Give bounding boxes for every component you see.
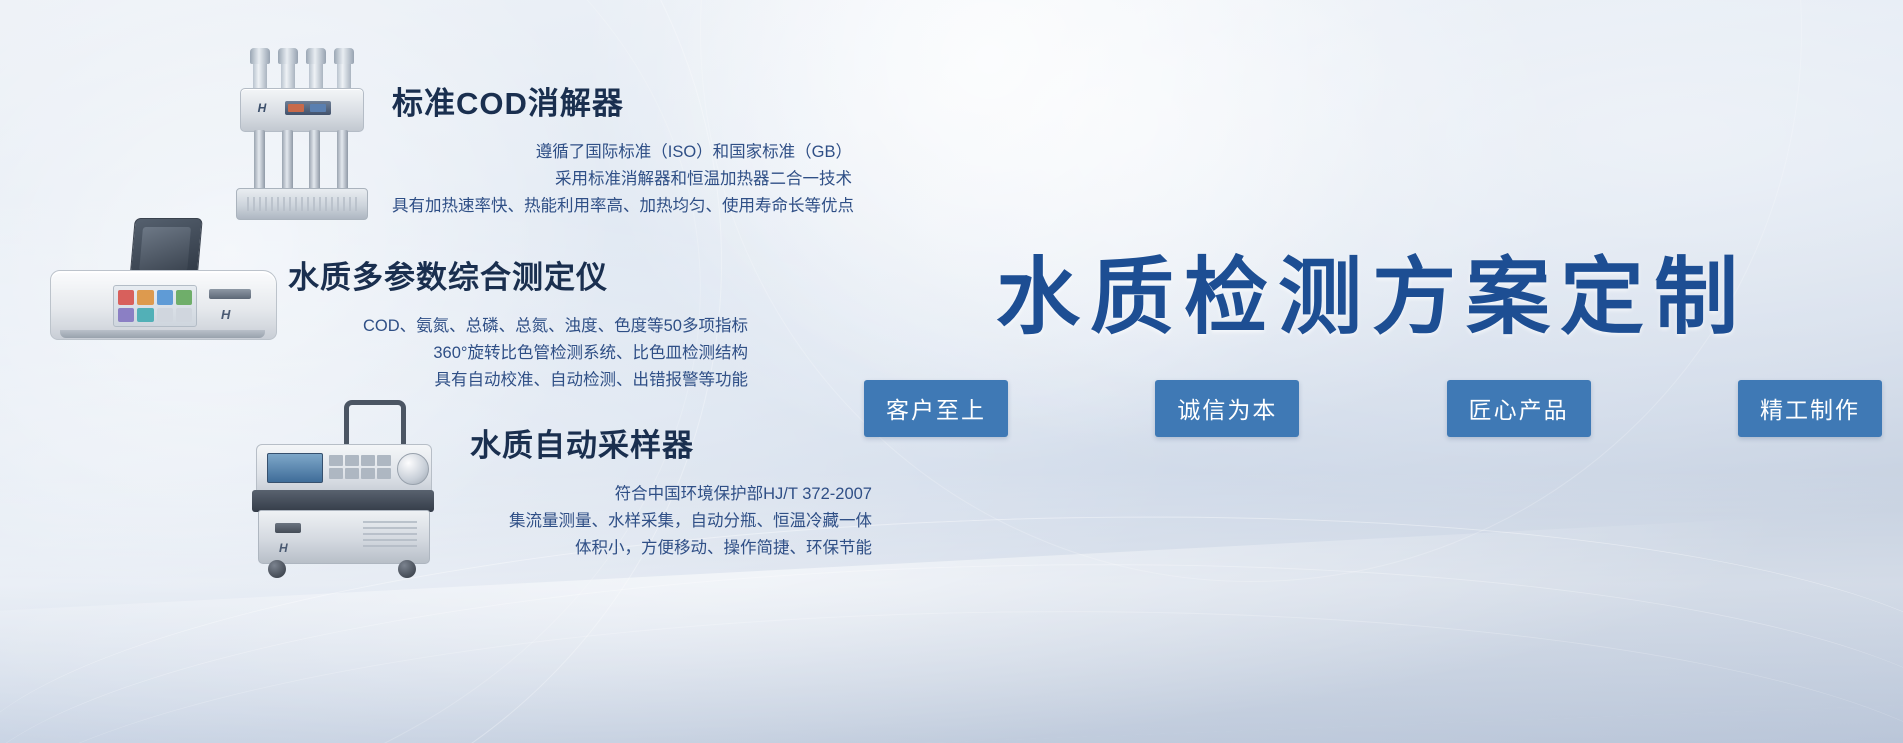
analyzer-base	[60, 330, 265, 338]
sampler-handle	[344, 400, 406, 449]
product-block-auto-water-sampler: 水质自动采样器 符合中国环境保护部HJ/T 372-2007 集流量测量、水样采…	[470, 420, 872, 562]
product-description-line: 采用标准消解器和恒温加热器二合一技术	[392, 166, 852, 193]
vent-grille-icon	[363, 521, 417, 551]
sampler-wheel-right	[398, 560, 416, 578]
sampler-keypad	[329, 455, 391, 479]
sampler-wheel-left	[268, 560, 286, 578]
value-tag-integrity[interactable]: 诚信为本	[1155, 380, 1299, 437]
water-quality-solution-banner: H H	[0, 0, 1903, 743]
product-description-line: 体积小，方便移动、操作简捷、环保节能	[470, 535, 872, 562]
banner-headline: 水质检测方案定制	[862, 230, 1882, 351]
digestion-tubes	[250, 48, 354, 92]
product-title: 水质多参数综合测定仪	[288, 252, 748, 297]
cod-digester-device-icon: H	[236, 48, 366, 218]
brand-mark-icon: H	[221, 307, 230, 322]
multi-parameter-analyzer-device-icon: H	[50, 218, 275, 338]
value-tag-customer-first[interactable]: 客户至上	[864, 380, 1008, 437]
product-title: 水质自动采样器	[470, 420, 872, 465]
brand-mark-icon: H	[279, 541, 288, 555]
product-description-line: 符合中国环境保护部HJ/T 372-2007	[470, 481, 872, 508]
analyzer-keys	[118, 290, 192, 322]
auto-water-sampler-device-icon: H	[248, 400, 438, 578]
digester-control-head: H	[240, 88, 364, 132]
product-description: 符合中国环境保护部HJ/T 372-2007 集流量测量、水样采集，自动分瓶、恒…	[470, 481, 872, 562]
product-description-line: 具有自动校准、自动检测、出错报警等功能	[288, 367, 748, 394]
value-tag-list: 客户至上 诚信为本 匠心产品 精工制作	[864, 380, 1882, 437]
analyzer-keypad-panel	[113, 285, 197, 327]
analyzer-cuvette-slot	[209, 289, 251, 299]
product-description-line: 360°旋转比色管检测系统、比色皿检测结构	[288, 340, 748, 367]
product-description-line: 具有加热速率快、热能利用率高、加热均匀、使用寿命长等优点	[392, 193, 852, 220]
product-title: 标准COD消解器	[392, 78, 852, 123]
digester-rods	[246, 130, 356, 192]
sampler-cabinet: H	[258, 510, 430, 564]
background-wave-3	[0, 592, 1903, 743]
digester-base	[236, 188, 368, 220]
product-description-line: COD、氨氮、总磷、总氮、浊度、色度等50多项指标	[288, 313, 748, 340]
product-description-line: 集流量测量、水样采集，自动分瓶、恒温冷藏一体	[470, 508, 872, 535]
product-description: COD、氨氮、总磷、总氮、浊度、色度等50多项指标 360°旋转比色管检测系统、…	[288, 313, 748, 394]
sampler-control-top	[256, 444, 432, 494]
digester-display	[285, 101, 331, 115]
value-tag-fine-manufacturing[interactable]: 精工制作	[1738, 380, 1882, 437]
sampler-door-latch	[275, 523, 301, 533]
sampler-display	[267, 453, 323, 483]
sampler-pump-head-icon	[397, 453, 429, 485]
value-tag-craftsmanship[interactable]: 匠心产品	[1447, 380, 1591, 437]
sampler-mid-band	[252, 490, 434, 512]
vent-grille-icon	[247, 197, 357, 211]
brand-mark-icon: H	[255, 101, 269, 115]
product-block-cod-digester: 标准COD消解器 遵循了国际标准（ISO）和国家标准（GB） 采用标准消解器和恒…	[392, 78, 852, 220]
product-block-multi-parameter-analyzer: 水质多参数综合测定仪 COD、氨氮、总磷、总氮、浊度、色度等50多项指标 360…	[288, 252, 748, 394]
product-description: 遵循了国际标准（ISO）和国家标准（GB） 采用标准消解器和恒温加热器二合一技术…	[392, 139, 852, 220]
product-description-line: 遵循了国际标准（ISO）和国家标准（GB）	[392, 139, 852, 166]
